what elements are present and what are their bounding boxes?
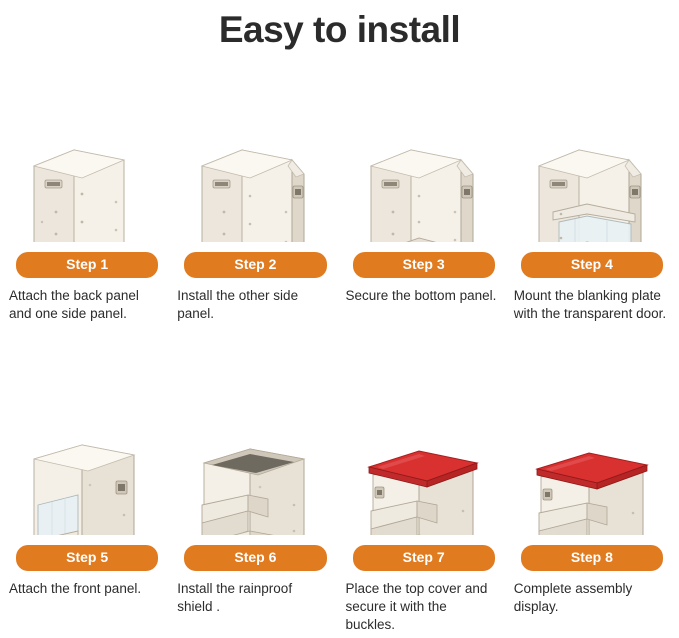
step-figure-5: [8, 345, 166, 535]
step-card-2: Step 2 Install the other side panel.: [176, 52, 334, 323]
step-badge-8: Step 8: [521, 545, 663, 571]
steps-row-1: Step 1 Attach the back panel and one sid…: [0, 52, 679, 323]
step-caption-8: Complete assembly display.: [513, 580, 671, 616]
figure-back-panel-and-one-side-panel: [12, 62, 162, 242]
step-caption-6: Install the rainproof shield .: [176, 580, 334, 616]
step-card-3: Step 3 Secure the bottom panel.: [345, 52, 503, 323]
step-card-1: Step 1 Attach the back panel and one sid…: [8, 52, 166, 323]
figure-bottom-panel-secured: [349, 62, 499, 242]
step-figure-2: [176, 52, 334, 242]
steps-row-2: Step 5 Attach the front panel.: [0, 345, 679, 634]
step-badge-1: Step 1: [16, 252, 158, 278]
step-badge-6: Step 6: [184, 545, 326, 571]
step-card-8: Step 8 Complete assembly display.: [513, 345, 671, 634]
step-caption-5: Attach the front panel.: [8, 580, 166, 598]
step-figure-7: [345, 345, 503, 535]
step-caption-4: Mount the blanking plate with the transp…: [513, 287, 671, 323]
step-card-7: Step 7 Place the top cover and secure it…: [345, 345, 503, 634]
step-figure-3: [345, 52, 503, 242]
step-figure-1: [8, 52, 166, 242]
step-badge-5: Step 5: [16, 545, 158, 571]
step-badge-7: Step 7: [353, 545, 495, 571]
step-figure-8: [513, 345, 671, 535]
step-card-6: Step 6 Install the rainproof shield .: [176, 345, 334, 634]
figure-top-cover-placed-red-roof: [349, 355, 499, 535]
step-badge-4: Step 4: [521, 252, 663, 278]
figure-rainproof-shield-installed: [180, 355, 330, 535]
step-badge-3: Step 3: [353, 252, 495, 278]
figure-complete-assembly-red-roof: [517, 355, 667, 535]
step-figure-4: [513, 52, 671, 242]
step-card-5: Step 5 Attach the front panel.: [8, 345, 166, 634]
figure-blanking-plate-with-transparent-door: [517, 62, 667, 242]
step-figure-6: [176, 345, 334, 535]
figure-two-side-panels: [180, 62, 330, 242]
page-title: Easy to install: [0, 8, 679, 52]
install-guide-page: Easy to install: [0, 8, 679, 638]
step-badge-2: Step 2: [184, 252, 326, 278]
figure-front-panel-attached: [12, 355, 162, 535]
step-caption-3: Secure the bottom panel.: [345, 287, 503, 305]
step-caption-2: Install the other side panel.: [176, 287, 334, 323]
step-caption-1: Attach the back panel and one side panel…: [8, 287, 166, 323]
step-caption-7: Place the top cover and secure it with t…: [345, 580, 503, 634]
step-card-4: Step 4 Mount the blanking plate with the…: [513, 52, 671, 323]
